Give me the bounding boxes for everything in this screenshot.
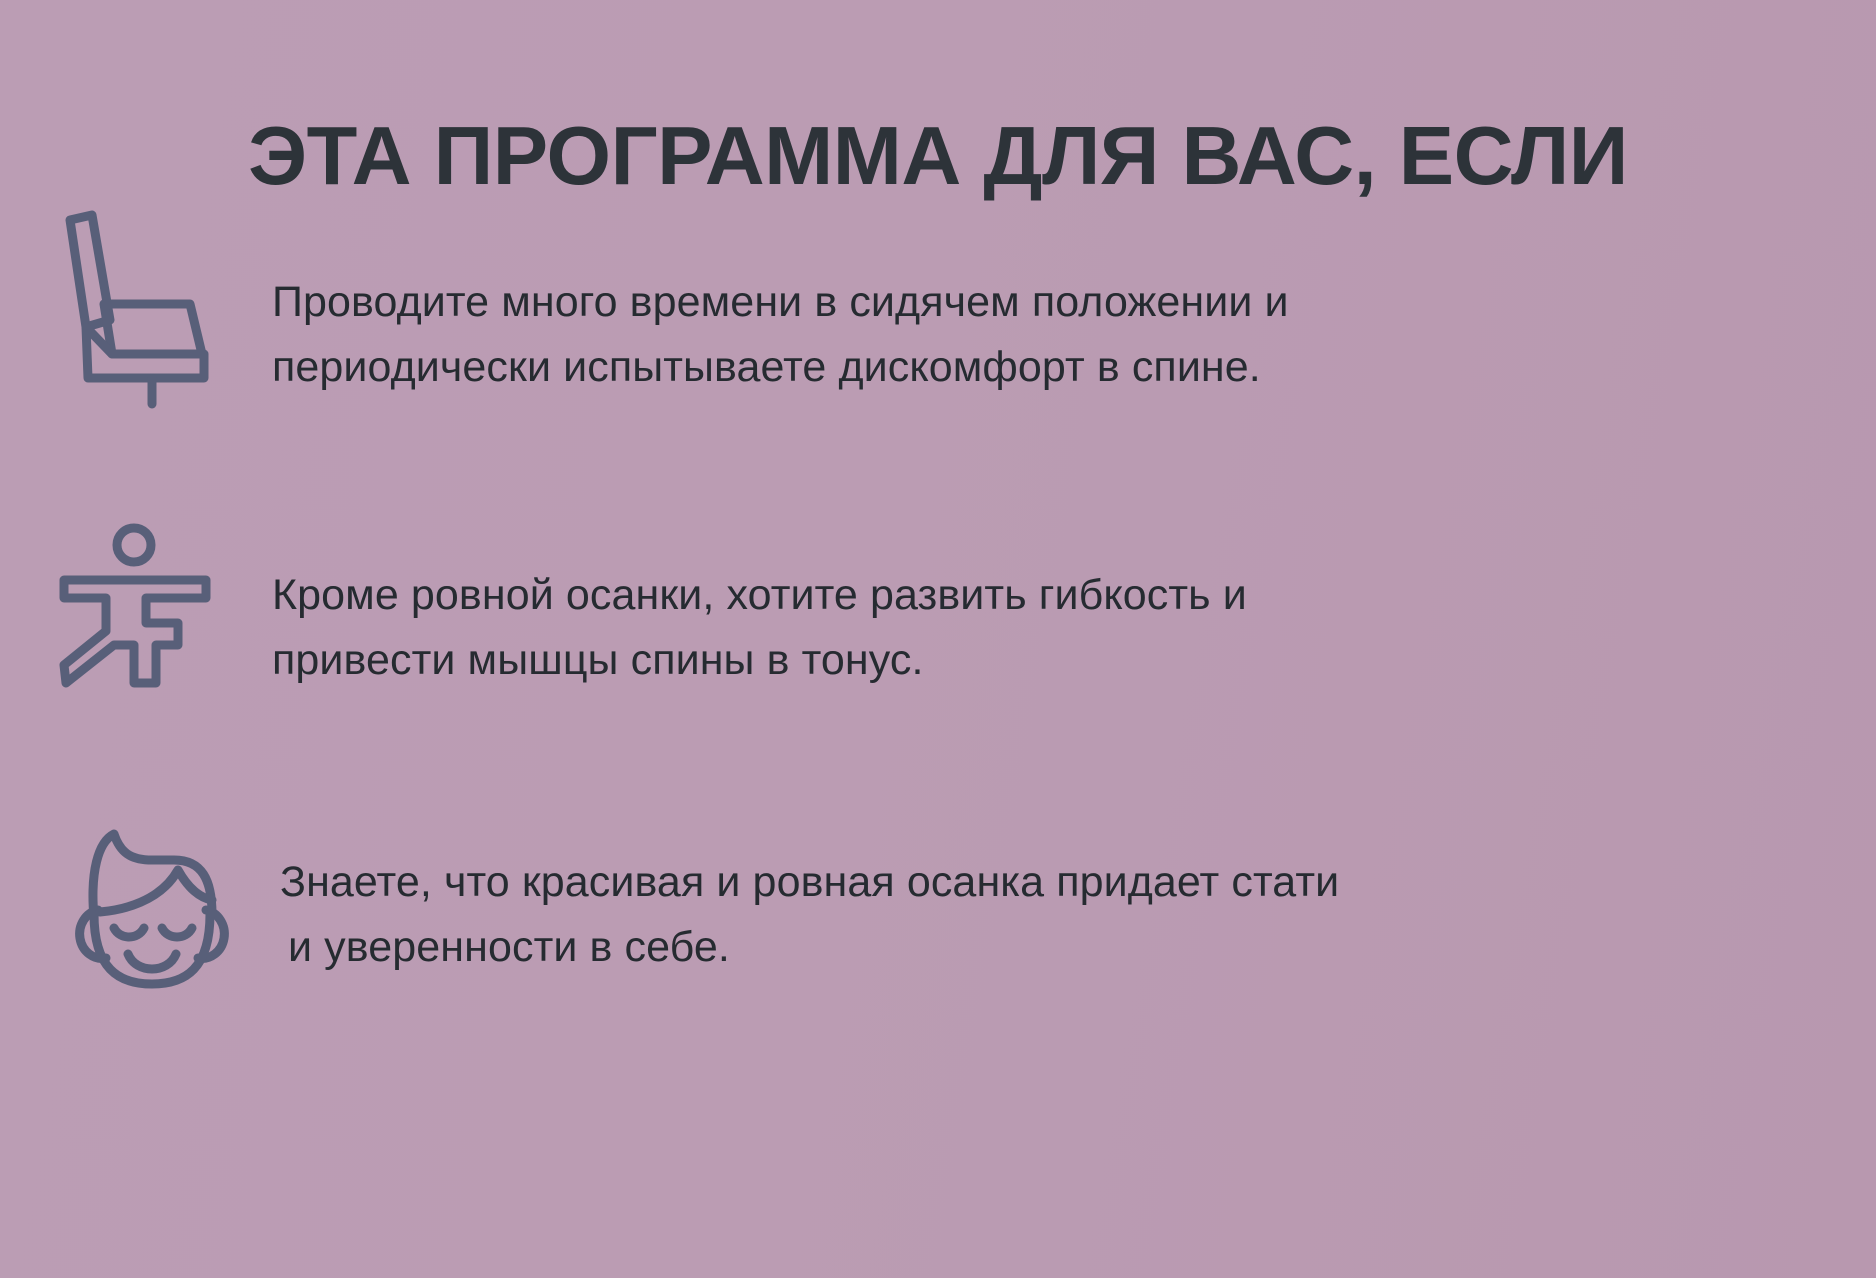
benefit-row: Кроме ровной осанки, хотите развить гибк… bbox=[56, 515, 1816, 709]
benefit-text-line-1: Проводите много времени в сидячем положе… bbox=[272, 270, 1816, 335]
slide-canvas: ЭТА ПРОГРАММА ДЛЯ ВАС, ЕСЛИ Проводите мн… bbox=[0, 0, 1876, 1278]
benefit-text: Кроме ровной осанки, хотите развить гибк… bbox=[242, 515, 1816, 694]
benefit-text: Проводите много времени в сидячем положе… bbox=[242, 208, 1816, 401]
benefit-text-line-1: Кроме ровной осанки, хотите развить гибк… bbox=[272, 563, 1816, 628]
page-title: ЭТА ПРОГРАММА ДЛЯ ВАС, ЕСЛИ bbox=[0, 112, 1876, 200]
benefit-text-line-2: периодически испытываете дискомфорт в сп… bbox=[272, 335, 1816, 400]
benefit-text: Знаете, что красивая и ровная осанка при… bbox=[242, 818, 1816, 981]
smiling-face-icon bbox=[56, 818, 242, 1004]
office-chair-icon bbox=[56, 208, 242, 394]
benefit-row: Проводите много времени в сидячем положе… bbox=[56, 208, 1816, 401]
benefit-row: Знаете, что красивая и ровная осанка при… bbox=[56, 818, 1816, 1004]
benefit-text-line-1: Знаете, что красивая и ровная осанка при… bbox=[280, 850, 1816, 915]
yoga-warrior-pose-icon bbox=[56, 515, 242, 709]
benefit-text-line-2: привести мышцы спины в тонус. bbox=[272, 628, 1816, 693]
benefit-text-line-2: и уверенности в себе. bbox=[280, 915, 1816, 980]
